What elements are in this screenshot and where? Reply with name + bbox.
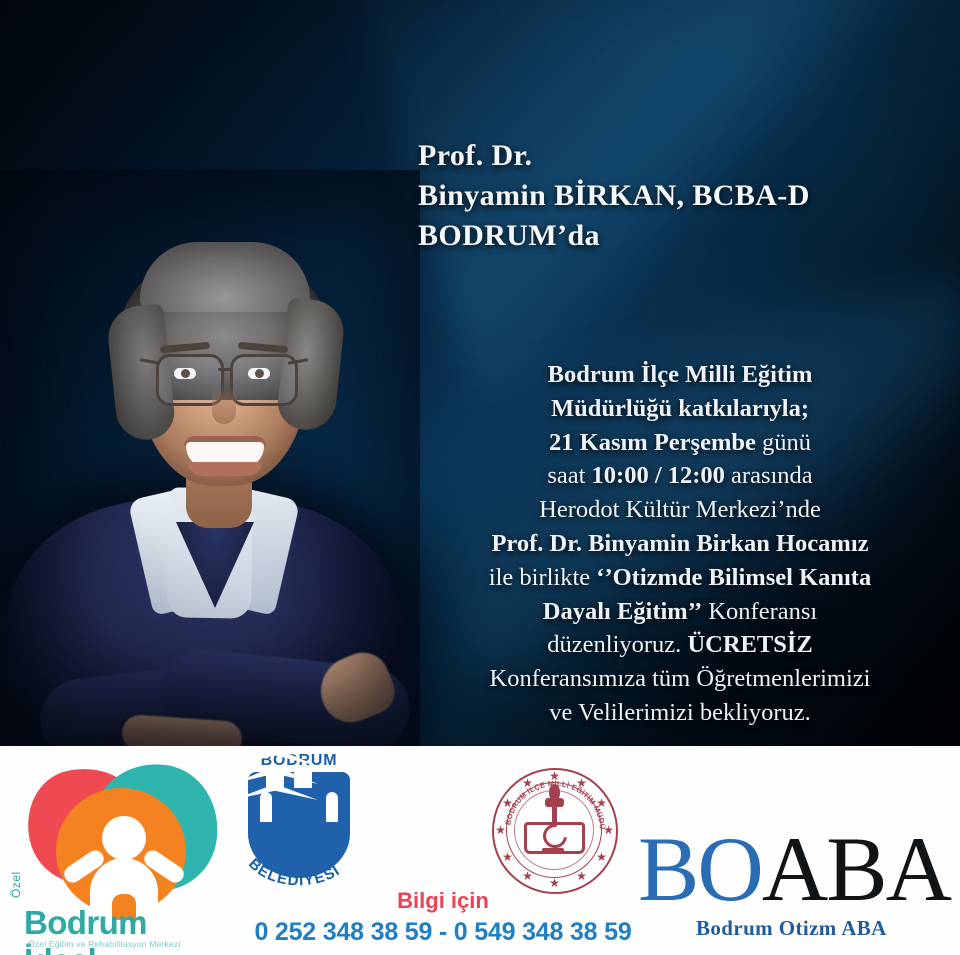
meb-arc-text: BODRUM İLÇE MİLLİ EĞİTİM MÜDÜRLÜĞÜ <box>494 770 616 892</box>
contact-info: Bilgi için 0 252 348 38 59 - 0 549 348 3… <box>238 888 648 947</box>
ideal-logo-person-head <box>102 816 146 860</box>
boaba-subtitle: Bodrum Otizm ABA <box>696 916 887 941</box>
body-line: Müdürlüğü katkılarıyla; <box>400 392 960 426</box>
headline-line-3: BODRUM’da <box>418 216 938 256</box>
sponsor-logo-bar: Özel Bodrum İdeal Özel Eğitim ve Rehabil… <box>0 746 960 955</box>
body-line: Dayalı Eğitim’’ Konferansı <box>400 595 960 629</box>
body-line: 21 Kasım Perşembe günü <box>400 426 960 460</box>
headline-line-1: Prof. Dr. <box>418 136 938 176</box>
boaba-wordmark: BOABA <box>638 824 954 914</box>
poster-body-text: Bodrum İlçe Milli Eğitim Müdürlüğü katkı… <box>400 358 960 730</box>
bodrum-belediyesi-logo: BODRUM BELEDİYESİ <box>232 748 364 898</box>
milli-egitim-seal-logo: ★ ★ ★ ★ ★ ★ ★ ★ ★ ★ ★ ★ BODRUM İLÇE MİLL… <box>492 768 618 894</box>
boaba-aba-text: ABA <box>762 818 950 920</box>
headline-line-2: Binyamin BİRKAN, BCBA-D <box>418 176 938 216</box>
poster-headline: Prof. Dr. Binyamin BİRKAN, BCBA-D BODRUM… <box>418 136 938 256</box>
contact-label: Bilgi için <box>238 888 648 914</box>
boaba-logo: BOABA Bodrum Otizm ABA <box>638 824 954 946</box>
ideal-logo-ozel-text: Özel <box>9 871 23 898</box>
body-line: Konferansımıza tüm Öğretmenlerimizi <box>400 662 960 696</box>
body-line: düzenliyoruz. ÜCRETSİZ <box>400 628 960 662</box>
body-line: ve Velilerimizi bekliyoruz. <box>400 696 960 730</box>
boaba-bo-text: BO <box>638 818 762 920</box>
ideal-logo-subtitle: Özel Eğitim ve Rehabilitasyon Merkezi <box>28 939 180 949</box>
svg-text:BELEDİYESİ: BELEDİYESİ <box>245 855 343 889</box>
meb-arc-label: BODRUM İLÇE MİLLİ EĞİTİM MÜDÜRLÜĞÜ <box>494 770 607 830</box>
belediye-arch-right <box>326 792 338 822</box>
svg-text:BODRUM İLÇE MİLLİ EĞİTİM MÜDÜR: BODRUM İLÇE MİLLİ EĞİTİM MÜDÜRLÜĞÜ <box>494 770 607 830</box>
belediye-arch-left <box>260 792 272 822</box>
event-poster: Prof. Dr. Binyamin BİRKAN, BCBA-D BODRUM… <box>0 0 960 955</box>
contact-phone-numbers[interactable]: 0 252 348 38 59 - 0 549 348 38 59 <box>238 918 648 947</box>
body-line: Prof. Dr. Binyamin Birkan Hocamız <box>400 527 960 561</box>
body-line: saat 10:00 / 12:00 arasında <box>400 459 960 493</box>
body-line: Bodrum İlçe Milli Eğitim <box>400 358 960 392</box>
body-line: ile birlikte ‘’Otizmde Bilimsel Kanıta <box>400 561 960 595</box>
poster-dark-background: Prof. Dr. Binyamin BİRKAN, BCBA-D BODRUM… <box>0 0 960 746</box>
bodrum-ideal-logo: Özel Bodrum İdeal Özel Eğitim ve Rehabil… <box>6 754 216 950</box>
belediye-bottom-label: BELEDİYESİ <box>245 855 343 889</box>
body-line: Herodot Kültür Merkezi’nde <box>400 493 960 527</box>
